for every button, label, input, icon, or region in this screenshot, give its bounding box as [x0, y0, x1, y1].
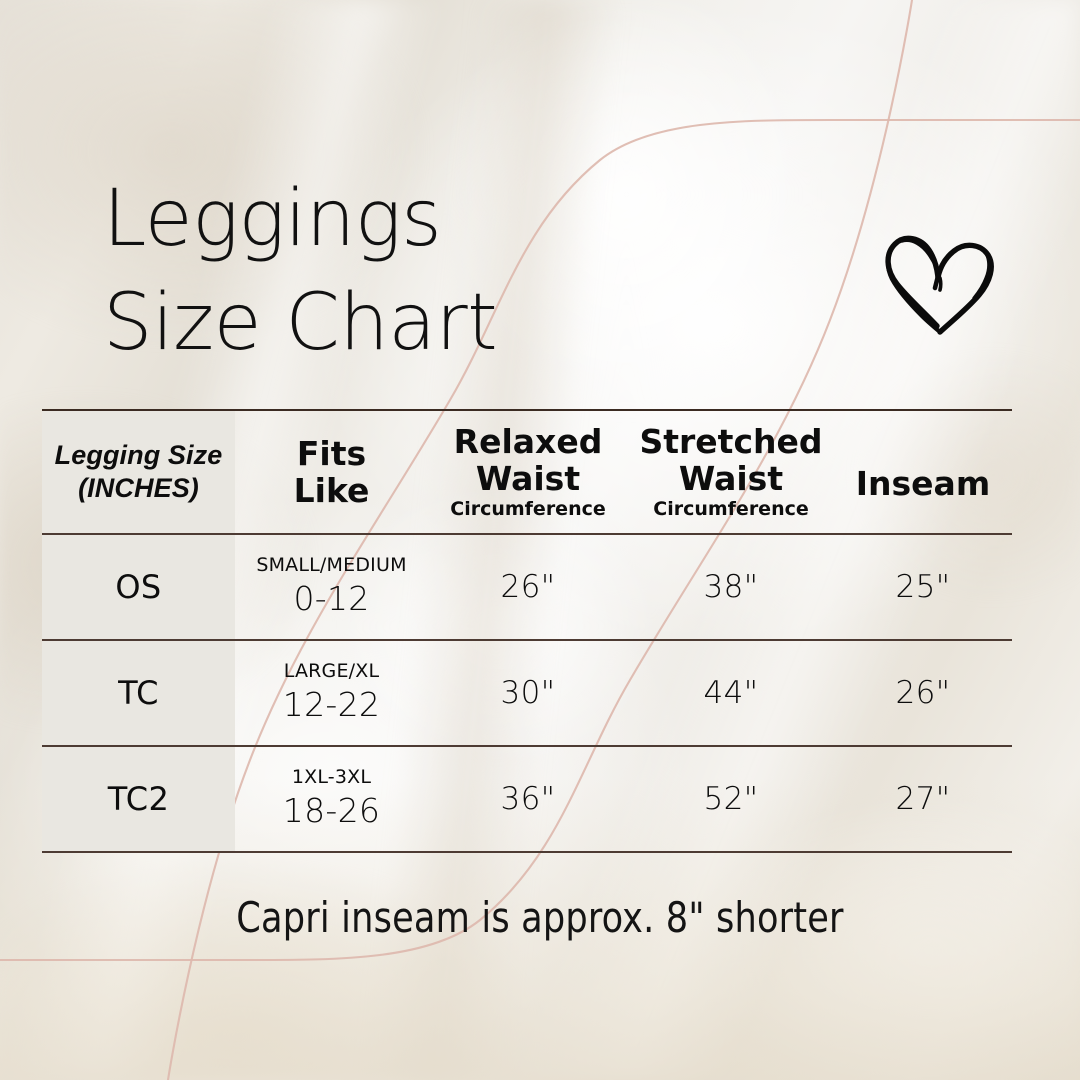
header-relaxed-waist-main: Relaxed: [428, 423, 628, 460]
table-header: Legging Size (INCHES) Fits Like Relaxed …: [42, 410, 1012, 534]
header-fits-like: Fits Like: [235, 410, 428, 534]
header-legging-size-main: Legging Size: [42, 439, 235, 472]
header-legging-size: Legging Size (INCHES): [42, 410, 235, 534]
title-line-2: Size Chart: [103, 272, 863, 376]
cell-fits-like-range: 18-26: [235, 790, 428, 831]
cell-inseam: 25": [834, 534, 1012, 640]
cell-fits-like-label: LARGE/XL: [235, 661, 428, 682]
title-line-1: Leggings: [103, 168, 863, 272]
header-fits-like-sub: Like: [235, 472, 428, 509]
cell-inseam: 27": [834, 746, 1012, 852]
cell-fits-like-range: 0-12: [235, 578, 428, 619]
header-stretched-waist: Stretched Waist Circumference: [628, 410, 834, 534]
cell-fits-like: SMALL/MEDIUM 0-12: [235, 534, 428, 640]
header-legging-size-sub: (INCHES): [42, 472, 235, 505]
table-row: OS SMALL/MEDIUM 0-12 26" 38" 25": [42, 534, 1012, 640]
header-stretched-waist-main: Stretched: [628, 423, 834, 460]
cell-relaxed-waist: 26": [428, 534, 628, 640]
cell-size: TC: [42, 640, 235, 746]
cell-relaxed-waist: 36": [428, 746, 628, 852]
footer-note: Capri inseam is approx. 8" shorter: [38, 893, 1042, 942]
cell-fits-like: LARGE/XL 12-22: [235, 640, 428, 746]
cell-stretched-waist: 44": [628, 640, 834, 746]
header-inseam: Inseam: [834, 410, 1012, 534]
cell-stretched-waist: 52": [628, 746, 834, 852]
cell-stretched-waist: 38": [628, 534, 834, 640]
header-stretched-waist-sub: Waist: [628, 460, 834, 497]
heart-doodle-icon: [878, 228, 1002, 356]
header-relaxed-waist: Relaxed Waist Circumference: [428, 410, 628, 534]
page-title: Leggings Size Chart: [103, 168, 863, 375]
size-chart-poster: Leggings Size Chart Legging Size (INCH: [0, 0, 1080, 1080]
size-chart-table: Legging Size (INCHES) Fits Like Relaxed …: [42, 409, 1012, 853]
cell-fits-like-label: 1XL-3XL: [235, 767, 428, 788]
table-body: OS SMALL/MEDIUM 0-12 26" 38" 25" TC LARG…: [42, 534, 1012, 852]
header-relaxed-waist-note: Circumference: [428, 498, 628, 521]
size-chart-table-container: Legging Size (INCHES) Fits Like Relaxed …: [42, 409, 1012, 853]
cell-relaxed-waist: 30": [428, 640, 628, 746]
header-relaxed-waist-sub: Waist: [428, 460, 628, 497]
header-stretched-waist-note: Circumference: [628, 498, 834, 521]
header-row: Legging Size (INCHES) Fits Like Relaxed …: [42, 410, 1012, 534]
header-fits-like-main: Fits: [235, 435, 428, 472]
cell-fits-like-range: 12-22: [235, 684, 428, 725]
cell-inseam: 26": [834, 640, 1012, 746]
cell-fits-like: 1XL-3XL 18-26: [235, 746, 428, 852]
cell-fits-like-label: SMALL/MEDIUM: [235, 555, 428, 576]
header-inseam-main: Inseam: [834, 466, 1012, 502]
table-row: TC2 1XL-3XL 18-26 36" 52" 27": [42, 746, 1012, 852]
cell-size: TC2: [42, 746, 235, 852]
cell-size: OS: [42, 534, 235, 640]
table-row: TC LARGE/XL 12-22 30" 44" 26": [42, 640, 1012, 746]
